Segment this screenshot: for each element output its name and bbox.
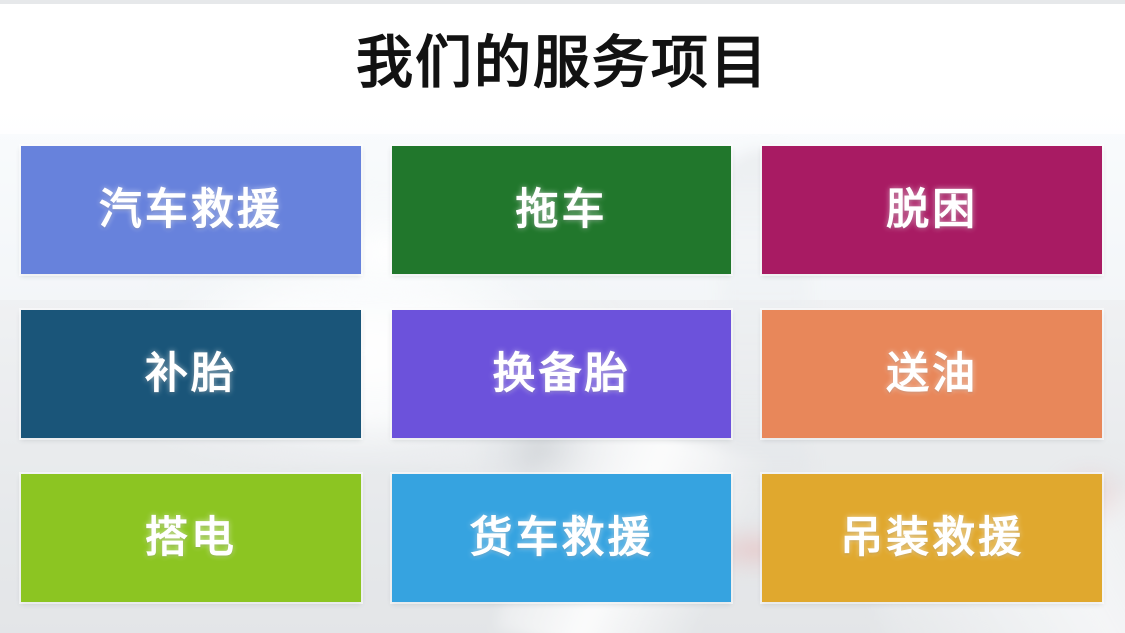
service-tile-label: 脱困 xyxy=(886,189,978,232)
service-tile-label: 拖车 xyxy=(515,189,607,232)
service-tile-car-rescue[interactable]: 汽车救援 xyxy=(21,146,361,274)
top-divider xyxy=(0,0,1125,4)
service-tile-hoisting-rescue[interactable]: 吊装救援 xyxy=(762,474,1102,602)
service-grid: 汽车救援 拖车 脱困 补胎 换备胎 送油 搭电 货车救援 吊装救援 xyxy=(21,146,1102,602)
service-tile-spare-tire-change[interactable]: 换备胎 xyxy=(392,310,732,438)
service-tile-label: 货车救援 xyxy=(469,517,653,560)
service-tile-label: 送油 xyxy=(886,353,978,396)
page-title: 我们的服务项目 xyxy=(0,24,1125,102)
service-tile-label: 搭电 xyxy=(145,517,237,560)
service-tile-truck-rescue[interactable]: 货车救援 xyxy=(392,474,732,602)
service-tile-label: 吊装救援 xyxy=(840,517,1024,560)
service-tile-fuel-delivery[interactable]: 送油 xyxy=(762,310,1102,438)
service-tile-tire-repair[interactable]: 补胎 xyxy=(21,310,361,438)
service-tile-extraction[interactable]: 脱困 xyxy=(762,146,1102,274)
service-tile-towing[interactable]: 拖车 xyxy=(392,146,732,274)
service-tile-jump-start[interactable]: 搭电 xyxy=(21,474,361,602)
header-band: 我们的服务项目 xyxy=(0,0,1125,134)
service-tile-label: 补胎 xyxy=(145,353,237,396)
service-tile-label: 换备胎 xyxy=(492,353,630,396)
service-tile-label: 汽车救援 xyxy=(99,189,283,232)
service-poster: 我们的服务项目 汽车救援 拖车 脱困 补胎 换备胎 送油 搭电 货车救援 吊装救… xyxy=(0,0,1125,633)
